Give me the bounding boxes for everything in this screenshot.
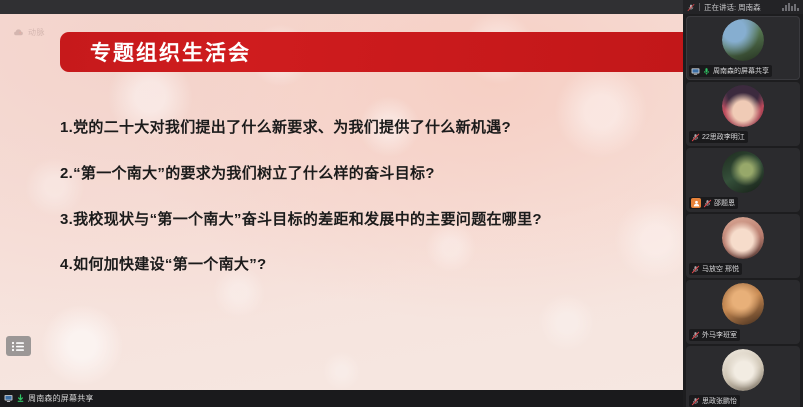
participant-tile[interactable]: 22思政李明江 xyxy=(686,82,800,146)
participant-name: 周南森的屏幕共享 xyxy=(713,66,769,76)
participant-name: 马放空 邢悦 xyxy=(702,264,739,274)
participant-namebar: 周南森的屏幕共享 xyxy=(689,65,772,77)
share-status-label: 周南森的屏幕共享 xyxy=(28,393,94,404)
slide-question-item: 4.如何加快建设“第一个南大”? xyxy=(60,256,670,275)
slide-menu-button[interactable] xyxy=(6,336,31,356)
slide-question-list: 1.党的二十大对我们提出了什么新要求、为我们提供了什么新机遇? 2.“第一个南大… xyxy=(60,119,670,302)
mic-muted-icon xyxy=(691,397,700,406)
participant-tile[interactable]: 邵题恩 xyxy=(686,148,800,212)
participant-name: 22思政李明江 xyxy=(702,132,745,142)
participant-name: 外马李班室 xyxy=(702,330,737,340)
shared-screen-area[interactable]: 动脉 专题组织生活会 1.党的二十大对我们提出了什么新要求、为我们提供了什么新机… xyxy=(0,0,683,407)
mic-muted-icon xyxy=(691,265,700,274)
slide-title-banner: 专题组织生活会 xyxy=(60,32,683,72)
monitor-icon xyxy=(4,394,13,403)
participant-name: 邵题恩 xyxy=(714,198,735,208)
list-menu-icon xyxy=(11,341,26,352)
active-speaker-header: 正在讲话: 周南森 xyxy=(683,0,803,14)
participant-tile[interactable]: 周南森的屏幕共享 xyxy=(686,16,800,80)
mic-muted-icon xyxy=(691,133,700,142)
avatar xyxy=(722,85,764,127)
slide-question-item: 2.“第一个南大”的要求为我们树立了什么样的奋斗目标? xyxy=(60,165,670,184)
participant-tiles: 周南森的屏幕共享 22思政李明江 xyxy=(683,16,803,407)
active-speaker-label: 正在讲话: 周南森 xyxy=(704,2,761,13)
screen-share-icon xyxy=(691,67,700,76)
participant-namebar: 外马李班室 xyxy=(689,329,740,341)
presentation-slide: 动脉 专题组织生活会 1.党的二十大对我们提出了什么新要求、为我们提供了什么新机… xyxy=(0,14,683,390)
avatar xyxy=(722,217,764,259)
participant-namebar: 思政张鹏怡 xyxy=(689,395,740,407)
download-arrow-icon xyxy=(16,394,25,403)
share-top-strip xyxy=(0,0,683,14)
host-badge xyxy=(691,198,701,208)
avatar xyxy=(722,349,764,391)
participant-tile[interactable]: 马放空 邢悦 xyxy=(686,214,800,278)
meeting-screen-share-window: 动脉 专题组织生活会 1.党的二十大对我们提出了什么新要求、为我们提供了什么新机… xyxy=(0,0,803,407)
mic-muted-icon xyxy=(691,331,700,340)
participant-namebar: 邵题恩 xyxy=(689,197,738,209)
host-person-icon xyxy=(693,200,700,207)
slide-watermark-text: 动脉 xyxy=(28,27,45,38)
avatar xyxy=(722,151,764,193)
share-status-bar: 周南森的屏幕共享 xyxy=(0,390,683,407)
audio-waveform-icon xyxy=(782,3,799,11)
participants-rail: 正在讲话: 周南森 xyxy=(683,0,803,407)
avatar xyxy=(722,19,764,61)
participant-tile[interactable]: 思政张鹏怡 xyxy=(686,346,800,407)
participant-name: 思政张鹏怡 xyxy=(702,396,737,406)
participant-tile[interactable]: 外马李班室 xyxy=(686,280,800,344)
header-divider xyxy=(699,3,700,11)
avatar xyxy=(722,283,764,325)
slide-title: 专题组织生活会 xyxy=(90,37,251,67)
mic-on-icon xyxy=(702,67,711,76)
mic-muted-icon xyxy=(687,3,695,12)
participant-namebar: 22思政李明江 xyxy=(689,131,748,143)
slide-question-item: 3.我校现状与“第一个南大”奋斗目标的差距和发展中的主要问题在哪里? xyxy=(60,211,670,230)
slide-watermark: 动脉 xyxy=(13,27,45,38)
slide-question-item: 1.党的二十大对我们提出了什么新要求、为我们提供了什么新机遇? xyxy=(60,119,670,138)
participant-namebar: 马放空 邢悦 xyxy=(689,263,742,275)
cloud-logo-icon xyxy=(13,27,24,38)
mic-muted-icon xyxy=(703,199,712,208)
